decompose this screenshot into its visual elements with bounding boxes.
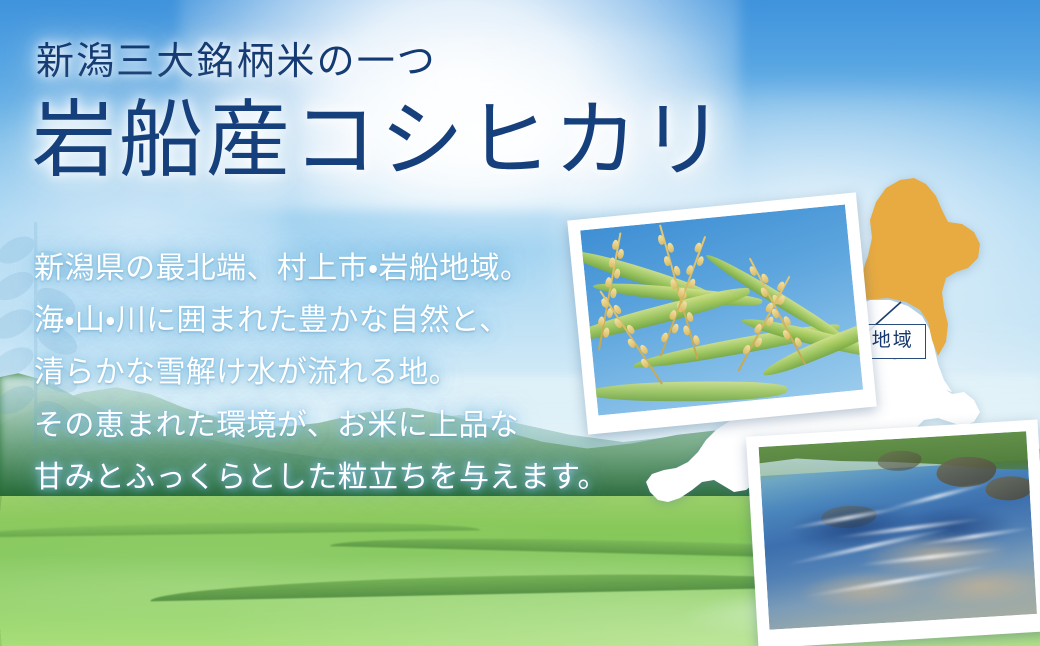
iwafune-koshihikari-banner: 新潟三大銘柄米の一つ 岩船産コシヒカリ 新潟県の最北端、村上市・岩船地域。 海・… <box>0 0 1040 646</box>
clear-river-photo-card <box>746 420 1040 646</box>
description-line: 清らかな雪解け水が流れる地。 <box>34 354 634 391</box>
clear-river-photo-image <box>759 431 1037 630</box>
description-line: 海・山・川に囲まれた豊かな自然と、 <box>34 302 634 339</box>
description-line: 甘みとふっくらとした粒立ちを与えます。 <box>34 459 634 496</box>
banner-description: 新潟県の最北端、村上市・岩船地域。 海・山・川に囲まれた豊かな自然と、 清らかな… <box>34 250 634 511</box>
description-line: 新潟県の最北端、村上市・岩船地域。 <box>34 250 634 287</box>
description-line: その恵まれた環境が、お米に上品な <box>34 407 634 444</box>
banner-subtitle: 新潟三大銘柄米の一つ <box>36 30 437 85</box>
rice-ears-photo-card <box>567 192 877 434</box>
rice-ears-photo-image <box>580 204 863 415</box>
